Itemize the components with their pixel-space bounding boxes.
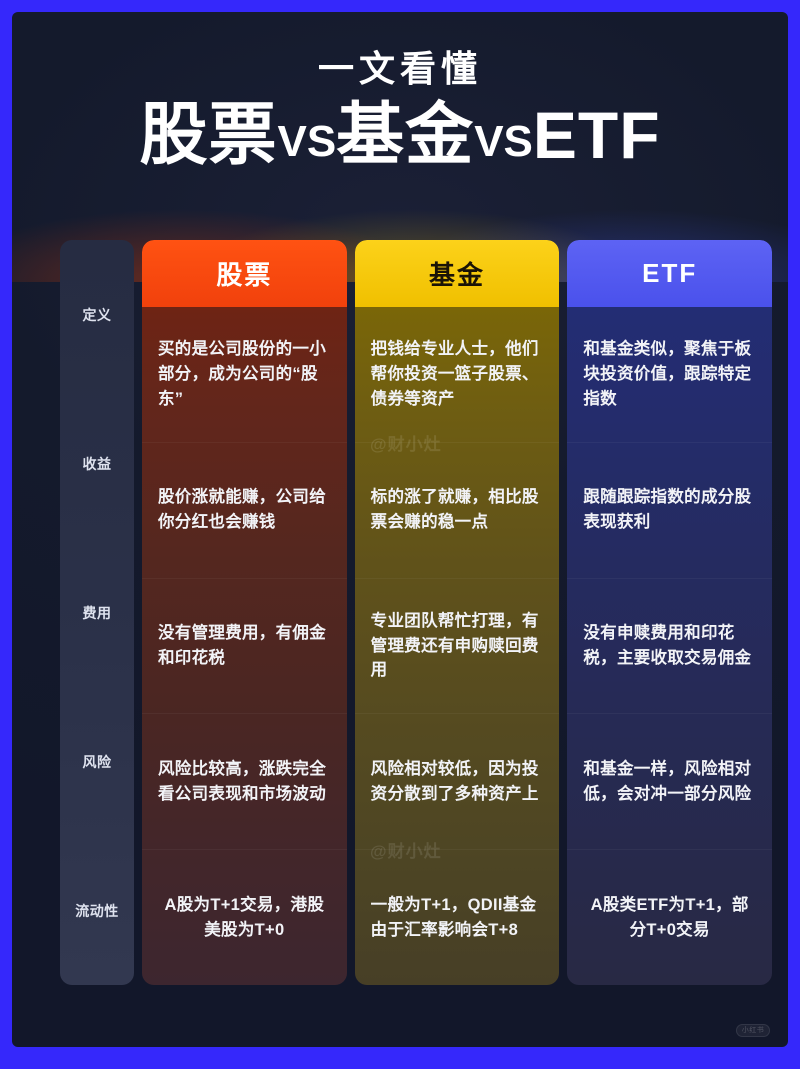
cell-etf-return: 跟随跟踪指数的成分股表现获利 <box>567 442 772 578</box>
row-label-definition: 定义 <box>60 240 134 389</box>
cell-fund-return: 标的涨了就赚，相比股票会赚的稳一点 <box>355 442 560 578</box>
cell-fund-liquidity: 一般为T+1，QDII基金由于汇率影响会T+8 <box>355 849 560 985</box>
comparison-table: 定义 收益 费用 风险 流动性 股票 买的是公司股份的一小部分，成为公司的“股东… <box>60 240 772 985</box>
cell-stock-liquidity: A股为T+1交易，港股美股为T+0 <box>142 849 347 985</box>
cell-fund-risk: 风险相对较低，因为投资分散到了多种资产上 <box>355 713 560 849</box>
row-label-return: 收益 <box>60 389 134 538</box>
column-body-etf: 和基金类似，聚焦于板块投资价值，跟踪特定指数 跟随跟踪指数的成分股表现获利 没有… <box>567 307 772 985</box>
cell-etf-definition: 和基金类似，聚焦于板块投资价值，跟踪特定指数 <box>567 307 772 442</box>
row-label-fee: 费用 <box>60 538 134 687</box>
title-part-fund: 基金 <box>336 97 474 173</box>
page-title: 股票VS基金VSETF <box>12 97 788 173</box>
cell-stock-risk: 风险比较高，涨跌完全看公司表现和市场波动 <box>142 713 347 849</box>
cell-stock-definition: 买的是公司股份的一小部分，成为公司的“股东” <box>142 307 347 442</box>
row-label-column: 定义 收益 费用 风险 流动性 <box>60 240 134 985</box>
source-badge: 小红书 <box>736 1024 770 1037</box>
column-body-fund: 把钱给专业人士，他们帮你投资一篮子股票、债券等资产 标的涨了就赚，相比股票会赚的… <box>355 307 560 985</box>
cell-stock-return: 股价涨就能赚，公司给你分红也会赚钱 <box>142 442 347 578</box>
poster-frame: 一文看懂 股票VS基金VSETF 定义 收益 费用 风险 流动性 股票 买的是公… <box>0 0 800 1069</box>
column-etf: ETF 和基金类似，聚焦于板块投资价值，跟踪特定指数 跟随跟踪指数的成分股表现获… <box>567 240 772 985</box>
cell-etf-risk: 和基金一样，风险相对低，会对冲一部分风险 <box>567 713 772 849</box>
title-vs-2: VS <box>474 117 533 166</box>
title-part-stock: 股票 <box>139 97 277 173</box>
title-block: 一文看懂 股票VS基金VSETF <box>12 46 788 173</box>
column-stock: 股票 买的是公司股份的一小部分，成为公司的“股东” 股价涨就能赚，公司给你分红也… <box>142 240 347 985</box>
title-vs-1: VS <box>277 117 336 166</box>
cell-fund-definition: 把钱给专业人士，他们帮你投资一篮子股票、债券等资产 <box>355 307 560 442</box>
cell-etf-fee: 没有申赎费用和印花税，主要收取交易佣金 <box>567 578 772 714</box>
column-header-fund: 基金 <box>355 240 560 307</box>
cell-fund-fee: 专业团队帮忙打理，有管理费还有申购赎回费用 <box>355 578 560 714</box>
column-fund: 基金 把钱给专业人士，他们帮你投资一篮子股票、债券等资产 标的涨了就赚，相比股票… <box>355 240 560 985</box>
column-header-etf: ETF <box>567 240 772 307</box>
cell-etf-liquidity: A股类ETF为T+1，部分T+0交易 <box>567 849 772 985</box>
title-subtitle: 一文看懂 <box>12 46 788 91</box>
row-label-risk: 风险 <box>60 687 134 836</box>
column-body-stock: 买的是公司股份的一小部分，成为公司的“股东” 股价涨就能赚，公司给你分红也会赚钱… <box>142 307 347 985</box>
cell-stock-fee: 没有管理费用，有佣金和印花税 <box>142 578 347 714</box>
poster-card: 一文看懂 股票VS基金VSETF 定义 收益 费用 风险 流动性 股票 买的是公… <box>12 12 788 1047</box>
row-label-liquidity: 流动性 <box>60 836 134 985</box>
title-part-etf: ETF <box>533 98 661 172</box>
column-header-stock: 股票 <box>142 240 347 307</box>
